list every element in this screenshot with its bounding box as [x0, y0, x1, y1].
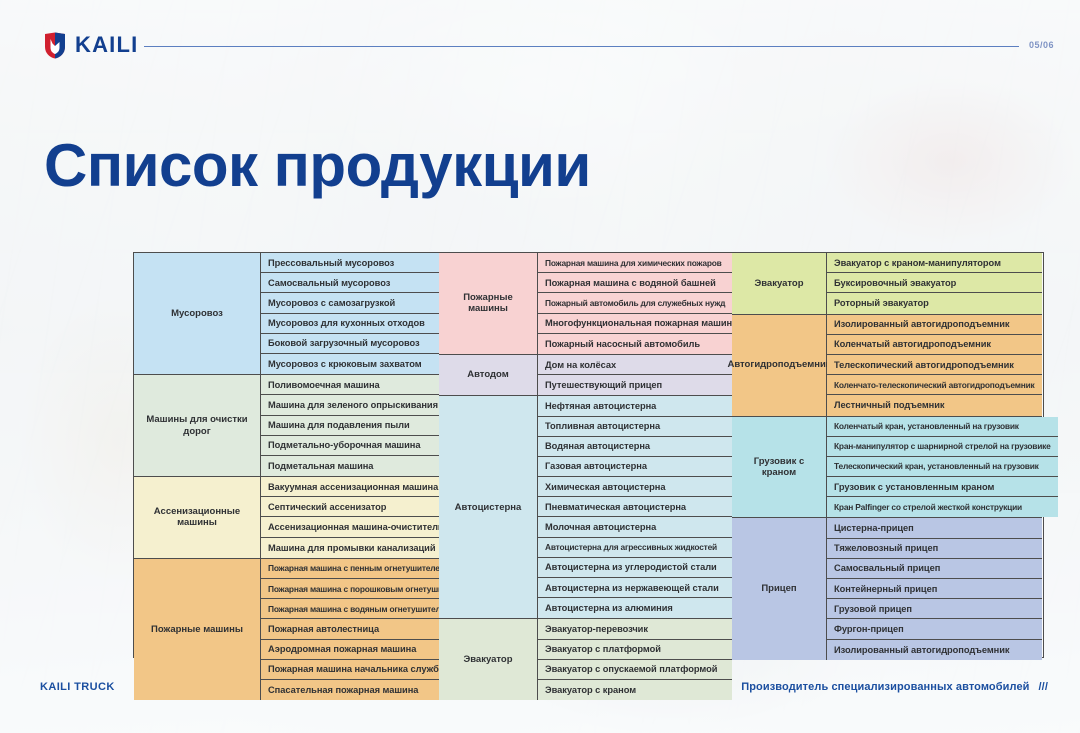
category-label[interactable]: Автоцистерна — [439, 396, 538, 618]
category-label[interactable]: Пожарные машины — [134, 559, 261, 700]
category-items: Эвакуатор с краном-манипуляторомБуксиров… — [827, 253, 1042, 314]
category-label[interactable]: Пожарные машины — [439, 253, 538, 354]
header-divider-line — [144, 46, 1019, 47]
category-label[interactable]: Грузовик с краном — [732, 417, 827, 518]
product-item[interactable]: Эвакуатор-перевозчик — [538, 619, 732, 639]
category-block: Грузовик с краномКоленчатый кран, устано… — [732, 417, 1042, 519]
product-item[interactable]: Изолированный автогидроподъемник — [827, 315, 1042, 335]
product-item[interactable]: Пневматическая автоцистерна — [538, 497, 732, 517]
footer-tagline-group: Производитель специализированных автомоб… — [741, 681, 1048, 693]
product-item[interactable]: Ассенизационная машина-очиститель — [261, 517, 451, 537]
product-item[interactable]: Буксировочный эвакуатор — [827, 273, 1042, 293]
product-item[interactable]: Коленчато-телескопический автогидроподъе… — [827, 375, 1042, 395]
category-items: Коленчатый кран, установленный на грузов… — [827, 417, 1058, 518]
category-block: АвтогидроподъемникИзолированный автогидр… — [732, 315, 1042, 417]
product-item[interactable]: Автоцистерна из углеродистой стали — [538, 558, 732, 578]
category-label[interactable]: Автодом — [439, 355, 538, 395]
category-block: Ассенизационные машиныВакуумная ассениза… — [134, 477, 439, 559]
product-item[interactable]: Коленчатый кран, установленный на грузов… — [827, 417, 1058, 437]
product-item[interactable]: Мусоровоз с крюковым захватом — [261, 354, 439, 374]
category-block: АвтоцистернаНефтяная автоцистернаТопливн… — [439, 396, 732, 619]
kaili-shield-logo-icon — [44, 32, 66, 59]
product-item[interactable]: Эвакуатор с краном — [538, 680, 732, 700]
product-item[interactable]: Поливомоечная машина — [261, 375, 445, 395]
category-items: Прессовальный мусоровозСамосвальный мусо… — [261, 253, 439, 374]
product-item[interactable]: Вакуумная ассенизационная машина — [261, 477, 451, 497]
product-item[interactable]: Тяжеловозный прицеп — [827, 539, 1042, 559]
column-1: МусоровозПрессовальный мусоровозСамосвал… — [134, 253, 439, 657]
category-block: ПрицепЦистерна-прицепТяжеловозный прицеп… — [732, 518, 1042, 659]
category-label[interactable]: Машины для очистки дорог — [134, 375, 261, 476]
product-item[interactable]: Контейнерный прицеп — [827, 579, 1042, 599]
page-number: 05/06 — [1029, 40, 1054, 50]
category-label[interactable]: Эвакуатор — [732, 253, 827, 314]
product-item[interactable]: Мусоровоз с самозагрузкой — [261, 293, 439, 313]
product-item[interactable]: Подметальная машина — [261, 456, 445, 476]
product-item[interactable]: Путешествующий прицеп — [538, 375, 732, 395]
product-item[interactable]: Эвакуатор с краном-манипулятором — [827, 253, 1042, 273]
category-block: АвтодомДом на колёсахПутешествующий приц… — [439, 355, 732, 396]
category-items: Пожарная машина для химических пожаровПо… — [538, 253, 744, 354]
product-list-table: МусоровозПрессовальный мусоровозСамосвал… — [133, 252, 1044, 658]
product-item[interactable]: Пожарный насосный автомобиль — [538, 334, 744, 354]
product-item[interactable]: Нефтяная автоцистерна — [538, 396, 732, 416]
slide-header: KAILI 05/06 — [44, 28, 1054, 62]
category-label[interactable]: Мусоровоз — [134, 253, 261, 374]
category-items: Эвакуатор-перевозчикЭвакуатор с платформ… — [538, 619, 732, 700]
product-item[interactable]: Изолированный автогидроподъемник — [827, 640, 1042, 660]
category-block: Пожарные машиныПожарная машина для химич… — [439, 253, 732, 355]
product-item[interactable]: Машина для зеленого опрыскивания — [261, 395, 445, 415]
product-item[interactable]: Подметально-уборочная машина — [261, 436, 445, 456]
product-item[interactable]: Кран Palfinger со стрелой жесткой констр… — [827, 497, 1058, 517]
product-item[interactable]: Пожарная машина для химических пожаров — [538, 253, 744, 273]
product-item[interactable]: Пожарный автомобиль для служебных нужд — [538, 293, 744, 313]
category-label[interactable]: Автогидроподъемник — [732, 315, 827, 416]
product-item[interactable]: Септический ассенизатор — [261, 497, 451, 517]
footer-slashes: /// — [1039, 681, 1048, 693]
product-item[interactable]: Мусоровоз для кухонных отходов — [261, 314, 439, 334]
brand-name: KAILI — [75, 34, 138, 56]
product-item[interactable]: Фургон-прицеп — [827, 619, 1042, 639]
product-item[interactable]: Лестничный подъемник — [827, 395, 1042, 415]
product-item[interactable]: Телескопический автогидроподъемник — [827, 355, 1042, 375]
category-label[interactable]: Ассенизационные машины — [134, 477, 261, 558]
category-items: Цистерна-прицепТяжеловозный прицепСамосв… — [827, 518, 1042, 659]
product-item[interactable]: Самосвальный прицеп — [827, 559, 1042, 579]
category-block: Машины для очистки дорогПоливомоечная ма… — [134, 375, 439, 477]
category-block: ЭвакуаторЭвакуатор-перевозчикЭвакуатор с… — [439, 619, 732, 700]
category-label[interactable]: Прицеп — [732, 518, 827, 659]
category-items: Дом на колёсахПутешествующий прицеп — [538, 355, 732, 395]
product-item[interactable]: Водяная автоцистерна — [538, 437, 732, 457]
product-item[interactable]: Автоцистерна для агрессивных жидкостей — [538, 538, 732, 558]
product-item[interactable]: Телескопический кран, установленный на г… — [827, 457, 1058, 477]
product-item[interactable]: Боковой загрузочный мусоровоз — [261, 334, 439, 354]
category-items: Поливомоечная машинаМашина для зеленого … — [261, 375, 445, 476]
product-item[interactable]: Цистерна-прицеп — [827, 518, 1042, 538]
product-item[interactable]: Пожарная машина с водяной башней — [538, 273, 744, 293]
footer-tagline: Производитель специализированных автомоб… — [741, 681, 1029, 693]
product-item[interactable]: Грузовик с установленным краном — [827, 477, 1058, 497]
category-block: ЭвакуаторЭвакуатор с краном-манипуляторо… — [732, 253, 1042, 315]
product-item[interactable]: Машина для промывки канализаций — [261, 538, 451, 558]
product-item[interactable]: Коленчатый автогидроподъемник — [827, 335, 1042, 355]
product-item[interactable]: Роторный эвакуатор — [827, 293, 1042, 313]
product-item[interactable]: Газовая автоцистерна — [538, 457, 732, 477]
category-items: Нефтяная автоцистернаТопливная автоцисте… — [538, 396, 732, 618]
column-3: ЭвакуаторЭвакуатор с краном-манипуляторо… — [732, 253, 1042, 657]
product-item[interactable]: Самосвальный мусоровоз — [261, 273, 439, 293]
category-block: МусоровозПрессовальный мусоровозСамосвал… — [134, 253, 439, 375]
product-item[interactable]: Машина для подавления пыли — [261, 416, 445, 436]
footer-brand: KAILI TRUCK — [40, 681, 115, 693]
product-item[interactable]: Молочная автоцистерна — [538, 517, 732, 537]
category-block: Пожарные машиныПожарная машина с пенным … — [134, 559, 439, 700]
product-item[interactable]: Прессовальный мусоровоз — [261, 253, 439, 273]
category-label[interactable]: Эвакуатор — [439, 619, 538, 700]
product-item[interactable]: Эвакуатор с опускаемой платформой — [538, 660, 732, 680]
column-2: Пожарные машиныПожарная машина для химич… — [439, 253, 732, 657]
category-items: Вакуумная ассенизационная машинаСептичес… — [261, 477, 451, 558]
product-item[interactable]: Эвакуатор с платформой — [538, 640, 732, 660]
page-title: Список продукции — [44, 134, 591, 197]
category-items: Изолированный автогидроподъемникКоленчат… — [827, 315, 1042, 416]
product-item[interactable]: Дом на колёсах — [538, 355, 732, 375]
product-item[interactable]: Автоцистерна из алюминия — [538, 598, 732, 618]
product-item[interactable]: Многофункциональная пожарная машина — [538, 314, 744, 334]
product-item[interactable]: Автоцистерна из нержавеющей стали — [538, 578, 732, 598]
product-item[interactable]: Топливная автоцистерна — [538, 417, 732, 437]
product-item[interactable]: Кран-манипулятор с шарнирной стрелой на … — [827, 437, 1058, 457]
product-item[interactable]: Грузовой прицеп — [827, 599, 1042, 619]
product-item[interactable]: Химическая автоцистерна — [538, 477, 732, 497]
